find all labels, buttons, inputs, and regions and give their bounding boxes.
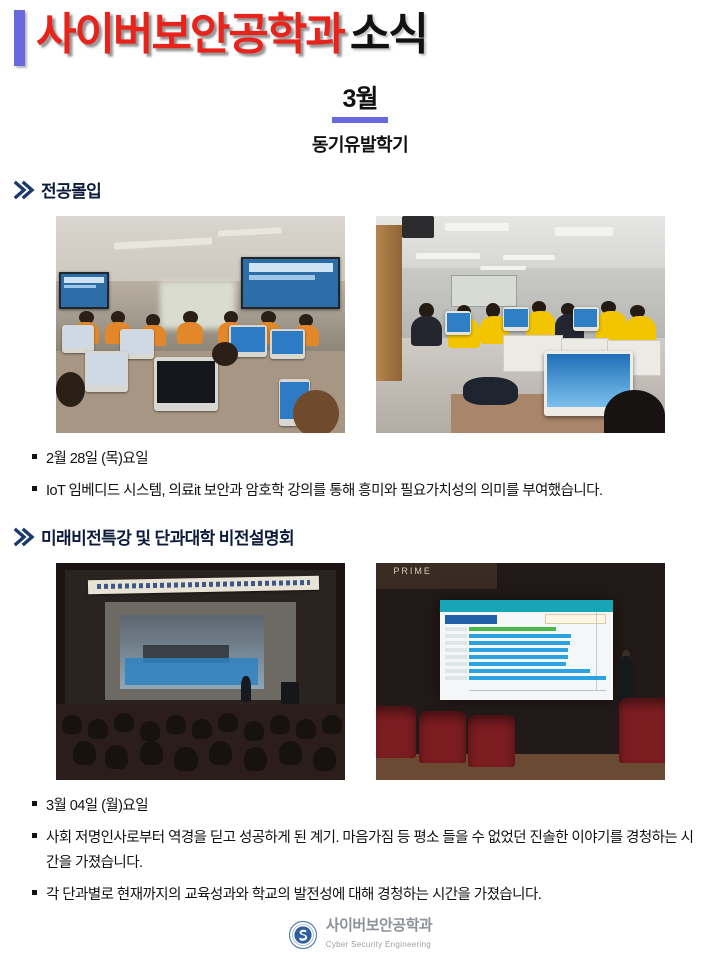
section-header: 전공몰입 [0, 177, 720, 202]
header-accent-bar [14, 10, 25, 66]
square-bullet-icon [32, 833, 37, 838]
square-bullet-icon [32, 454, 37, 459]
list-item: 사회 저명인사로부터 역경을 딛고 성공하게 된 계기. 마음가짐 등 평소 들… [32, 826, 720, 876]
list-item: IoT 임베디드 시스템, 의료it 보안과 암호학 강의를 통해 흥미와 필요… [32, 479, 720, 504]
cyber-security-s-emblem-icon [288, 920, 318, 950]
bullet-list: 3월 04일 (월)요일 사회 저명인사로부터 역경을 딛고 성공하게 된 계기… [0, 794, 720, 908]
photo-vision-presentation: PRIME [376, 563, 665, 780]
square-bullet-icon [32, 801, 37, 806]
photo-row: PRIME [0, 563, 720, 780]
page-footer: 사이버보안공학과 Cyber Security Engineering [0, 918, 720, 952]
list-item: 3월 04일 (월)요일 [32, 794, 720, 819]
photo-row [0, 216, 720, 433]
bullet-list: 2월 28일 (목)요일 IoT 임베디드 시스템, 의료it 보안과 암호학 … [0, 447, 720, 504]
bullet-text: 2월 28일 (목)요일 [46, 447, 148, 472]
square-bullet-icon [32, 486, 37, 491]
list-item: 2월 28일 (목)요일 [32, 447, 720, 472]
semester-label: 동기유발학기 [0, 131, 720, 157]
page-title-department: 사이버보안공학과 [36, 10, 344, 59]
month-underline [332, 117, 388, 123]
footer-text: 사이버보안공학과 Cyber Security Engineering [326, 918, 432, 952]
subtitle-block: 3월 동기유발학기 [0, 84, 720, 157]
footer-name-ko: 사이버보안공학과 [326, 917, 432, 934]
double-chevron-right-icon [14, 180, 36, 200]
section-title: 전공몰입 [41, 177, 101, 202]
section-major-immersion: 전공몰입 [0, 177, 720, 504]
bullet-text: 사회 저명인사로부터 역경을 딛고 성공하게 된 계기. 마음가짐 등 평소 들… [46, 826, 694, 876]
bullet-text: IoT 임베디드 시스템, 의료it 보안과 암호학 강의를 통해 흥미와 필요… [46, 479, 602, 504]
footer-name-en: Cyber Security Engineering [326, 940, 431, 949]
page-header: 사이버보안공학과소식 [0, 0, 720, 76]
square-bullet-icon [32, 890, 37, 895]
photo-auditorium-lecture [56, 563, 345, 780]
photo-classroom [376, 216, 665, 433]
section-title: 미래비전특강 및 단과대학 비전설명회 [41, 524, 294, 549]
page-title-news: 소식 [350, 10, 427, 59]
double-chevron-right-icon [14, 527, 36, 547]
bullet-text: 3월 04일 (월)요일 [46, 794, 148, 819]
bullet-text: 각 단과별로 현재까지의 교육성과와 학교의 발전성에 대해 경청하는 시간을 … [46, 883, 541, 908]
month-label: 3월 [0, 84, 720, 114]
section-future-vision-lecture: 미래비전특강 및 단과대학 비전설명회 [0, 524, 720, 908]
list-item: 각 단과별로 현재까지의 교육성과와 학교의 발전성에 대해 경청하는 시간을 … [32, 883, 720, 908]
photo-computer-lab [56, 216, 345, 433]
section-header: 미래비전특강 및 단과대학 비전설명회 [0, 524, 720, 549]
page-title: 사이버보안공학과소식 [36, 6, 427, 64]
